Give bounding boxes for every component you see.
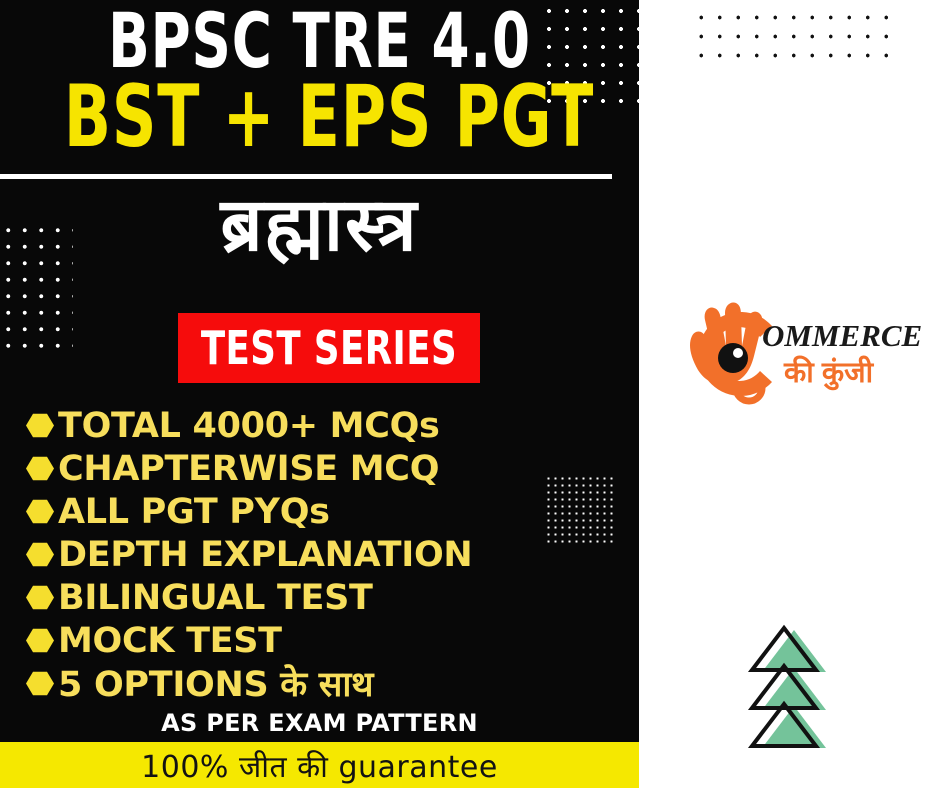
hexagon-bullet-icon	[26, 413, 54, 438]
headline-line-2: BST + EPS PGT	[64, 78, 575, 157]
hexagon-bullet-icon	[26, 499, 54, 524]
list-item-label: ALL PGT PYQs	[58, 492, 330, 532]
feature-list: TOTAL 4000+ MCQs CHAPTERWISE MCQ ALL PGT…	[26, 404, 626, 705]
headline-divider	[0, 174, 612, 179]
list-item-label: BILINGUAL TEST	[58, 578, 373, 618]
list-item-label: 5 OPTIONS के साथ	[58, 660, 373, 707]
hexagon-bullet-icon	[26, 542, 54, 567]
poster-canvas: BPSC TRE 4.0 BST + EPS PGT ब्रह्मास्त्र …	[0, 0, 940, 788]
dot-grid-icon-top-right	[692, 8, 902, 64]
brand-logo-text: OMMERCE की कुंजी	[762, 320, 917, 388]
hexagon-bullet-icon	[26, 671, 54, 696]
test-series-badge: TEST SERIES	[178, 313, 480, 383]
list-item-label: TOTAL 4000+ MCQs	[58, 406, 440, 446]
brand-logo-subtitle: की कुंजी	[784, 359, 917, 388]
list-item: BILINGUAL TEST	[26, 576, 626, 619]
hexagon-bullet-icon	[26, 585, 54, 610]
guarantee-banner: 100% जीत की guarantee	[0, 742, 639, 788]
hexagon-bullet-icon	[26, 456, 54, 481]
list-item: 5 OPTIONS के साथ	[26, 662, 626, 705]
page-title-hindi: ब्रह्मास्त्र	[0, 186, 639, 264]
brand-logo-word: OMMERCE	[762, 320, 917, 351]
list-item: TOTAL 4000+ MCQs	[26, 404, 626, 447]
list-item: ALL PGT PYQs	[26, 490, 626, 533]
list-item-label: CHAPTERWISE MCQ	[58, 449, 439, 489]
main-black-panel: BPSC TRE 4.0 BST + EPS PGT ब्रह्मास्त्र …	[0, 0, 639, 742]
list-item: MOCK TEST	[26, 619, 626, 662]
list-item-label: DEPTH EXPLANATION	[58, 535, 472, 575]
test-series-badge-label: TEST SERIES	[201, 321, 457, 375]
headline-line-1: BPSC TRE 4.0	[64, 6, 575, 76]
exam-pattern-note: AS PER EXAM PATTERN	[0, 709, 639, 737]
list-item-label: MOCK TEST	[58, 621, 282, 661]
list-item: DEPTH EXPLANATION	[26, 533, 626, 576]
brand-logo: OMMERCE की कुंजी	[676, 296, 916, 414]
list-item: CHAPTERWISE MCQ	[26, 447, 626, 490]
stacked-triangles-icon	[746, 622, 856, 750]
hexagon-bullet-icon	[26, 628, 54, 653]
guarantee-banner-label: 100% जीत की guarantee	[0, 742, 639, 788]
